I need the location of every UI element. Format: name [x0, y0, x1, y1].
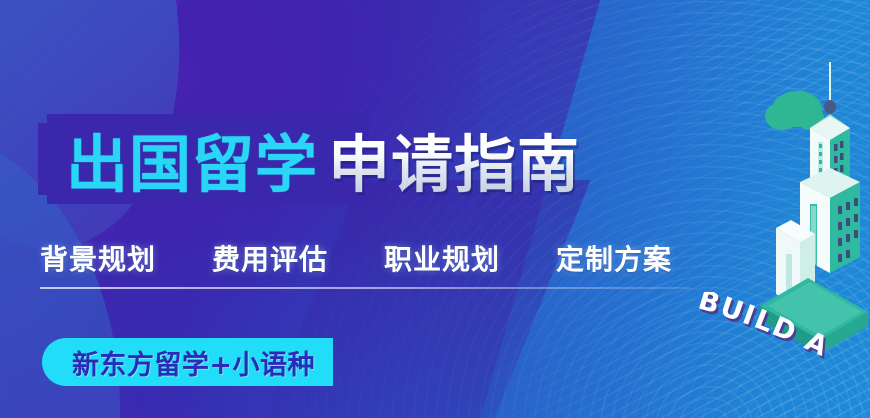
brand-badge-label: 新东方留学+小语种: [60, 343, 315, 382]
feature-item-cost-assessment: 费用评估: [212, 238, 328, 278]
background-diagonal-stripes-top: [620, 0, 870, 200]
background-arc-rings-lower: [300, 0, 870, 418]
cloud-shape: [765, 91, 824, 130]
headline-backdrop-notch: [38, 123, 50, 195]
skyscraper-illustration: [690, 58, 870, 418]
feature-item-career-planning: 职业规划: [384, 238, 500, 278]
feature-item-background-planning: 背景规划: [40, 238, 156, 278]
page-title: 出国留学 申请指南: [66, 113, 580, 205]
feature-item-custom-plan: 定制方案: [556, 238, 672, 278]
build-a-wordmark: BUILD A BUILD A: [692, 292, 868, 382]
svg-text:BUILD A: BUILD A: [695, 292, 834, 363]
feature-list: 背景规划 费用评估 职业规划 定制方案: [40, 238, 700, 278]
promo-banner: 出国留学 申请指南 背景规划 费用评估 职业规划 定制方案 新东方留学+小语种: [0, 0, 870, 418]
brand-badge[interactable]: 新东方留学+小语种: [42, 338, 333, 386]
svg-text:BUILD A: BUILD A: [697, 292, 836, 366]
headline-plain-text: 申请指南: [328, 114, 580, 204]
headline-highlight-text: 出国留学: [66, 114, 318, 204]
horizontal-divider: [40, 287, 690, 289]
